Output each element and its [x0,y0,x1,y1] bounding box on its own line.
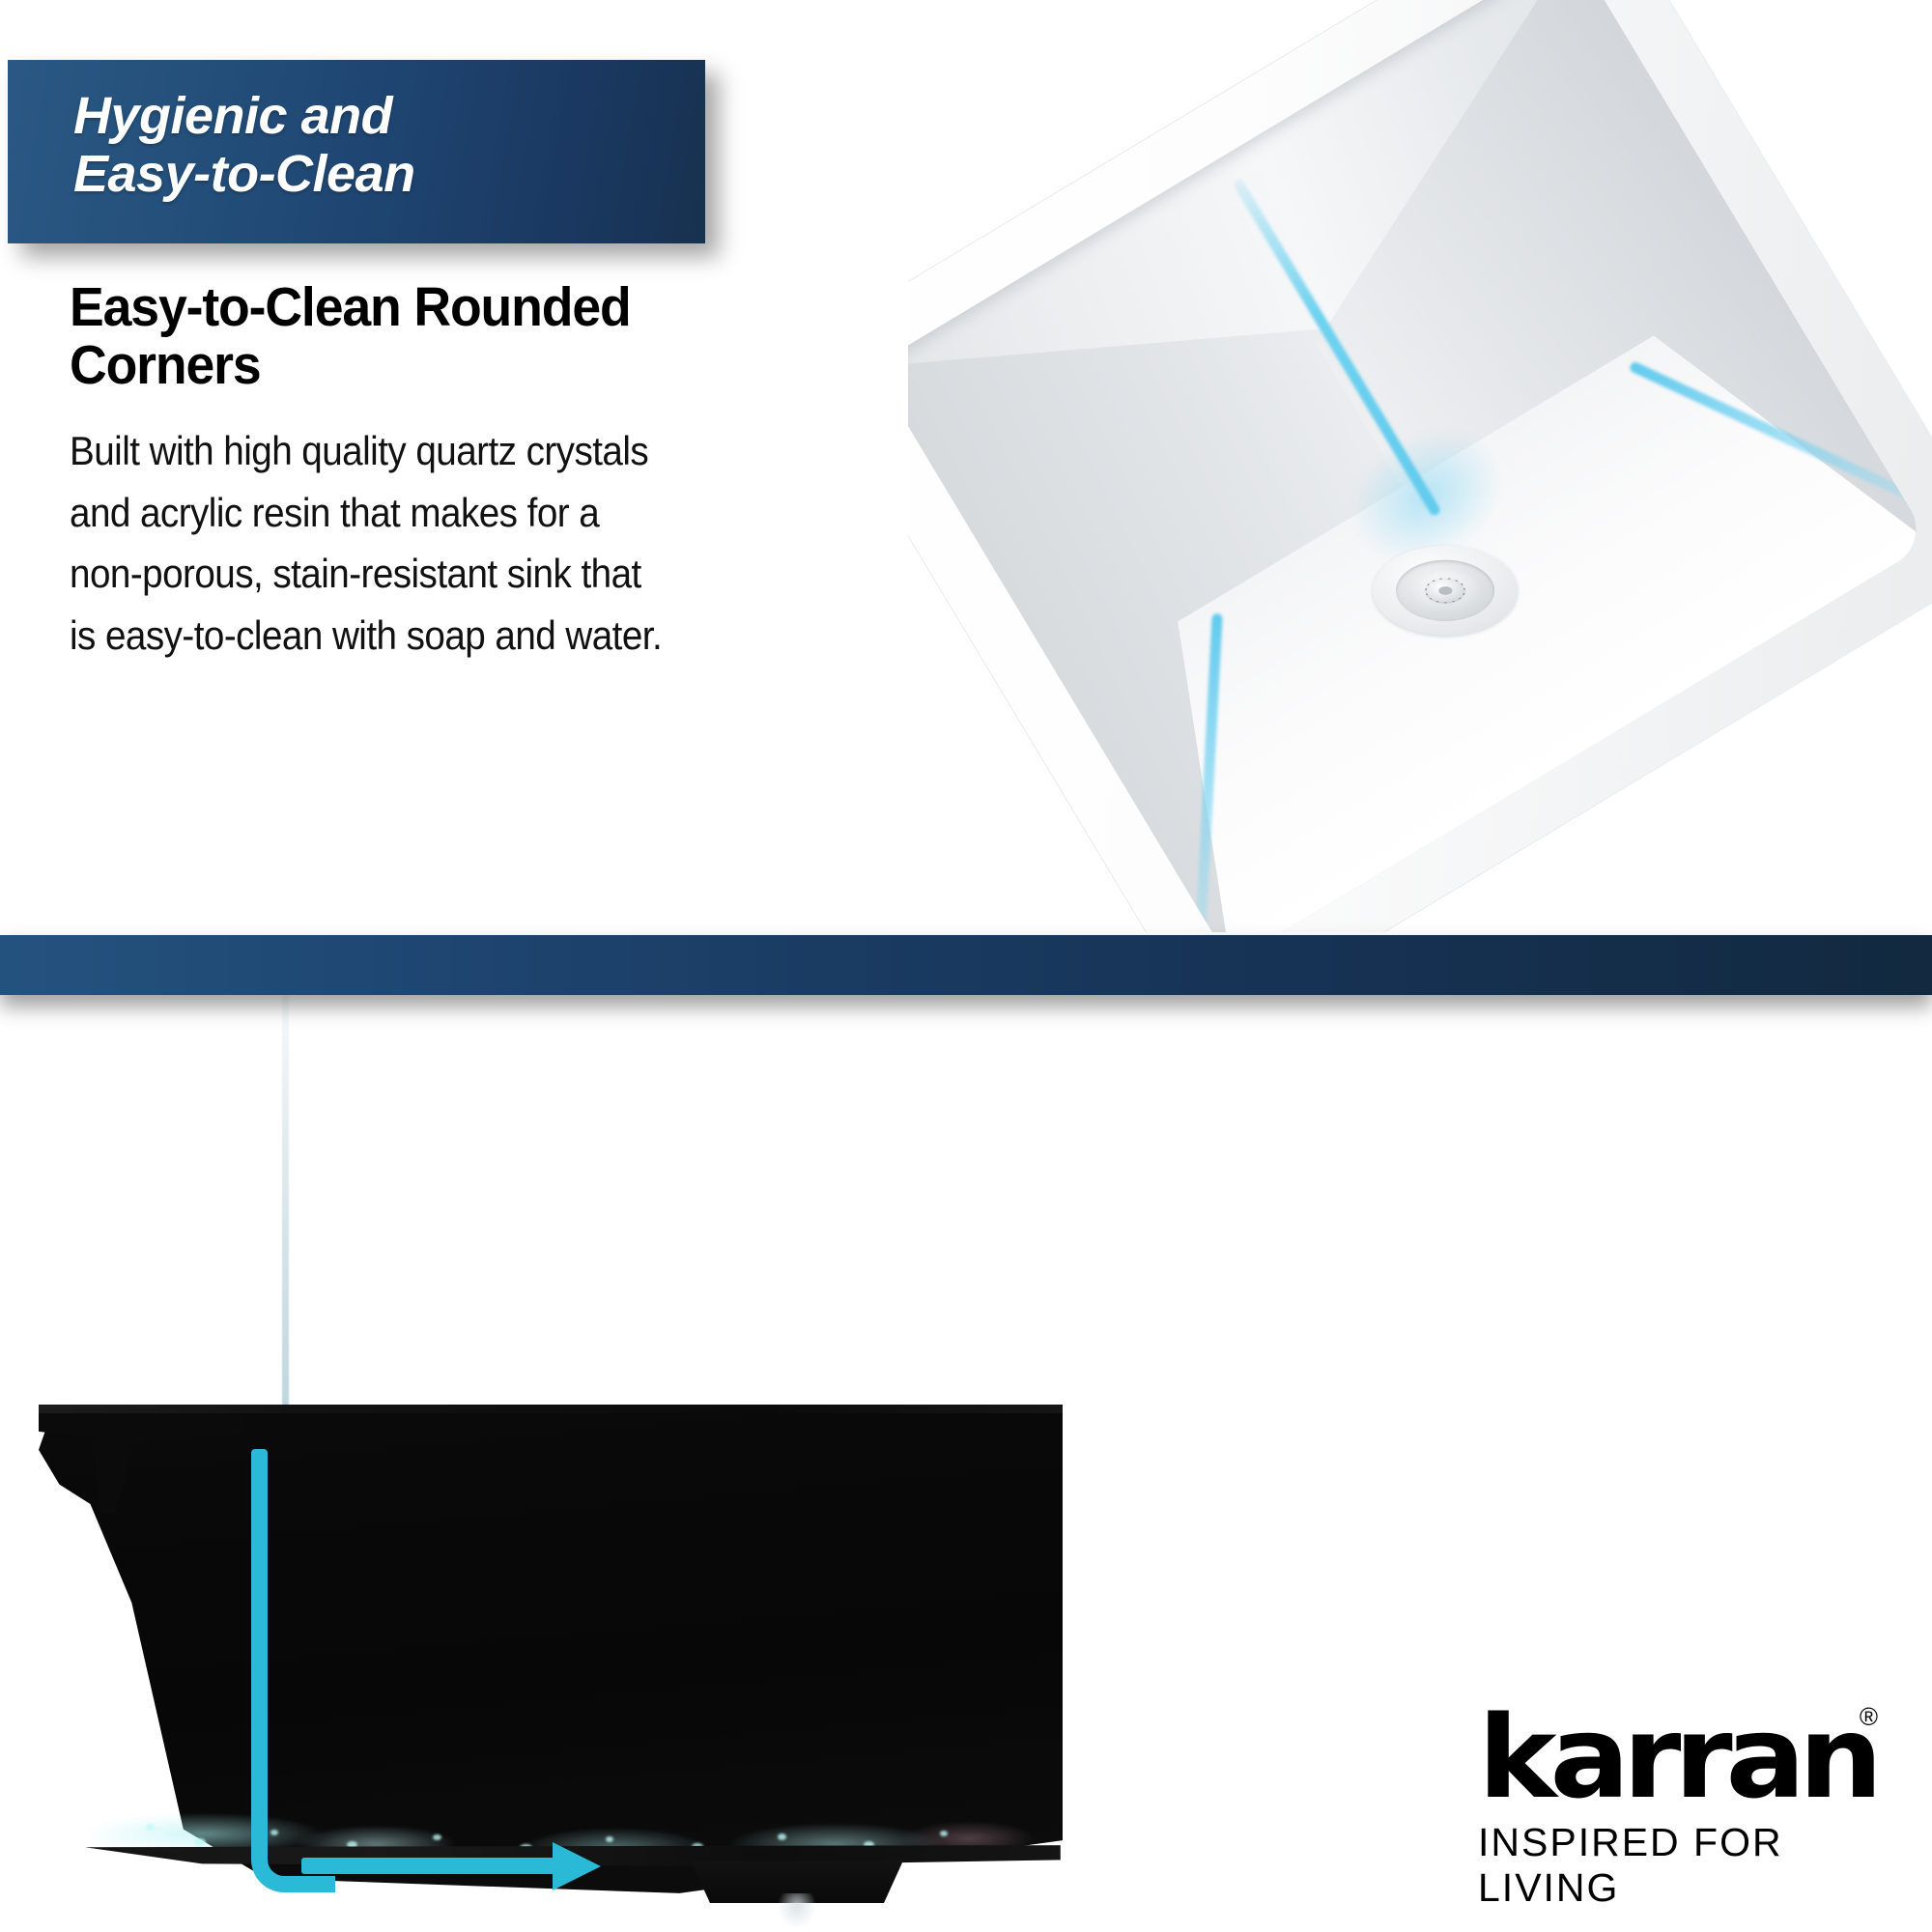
draining-water-spray [763,1893,831,1932]
hygienic-banner: Hygienic and Easy-to-Clean [8,60,705,243]
top-heading: Easy-to-Clean Rounded Corners [70,278,705,395]
karran-tagline: INSPIRED FOR LIVING [1478,1820,1884,1911]
section-divider-bar [0,935,1932,995]
faucet-water-stream [282,995,289,1447]
infographic-page: Hygienic and Easy-to-Clean Easy-to-Clean… [0,0,1932,1932]
registered-trademark-icon: ® [1860,1702,1878,1732]
karran-wordmark-container: karran ® [1478,1700,1874,1814]
black-sink-photo [0,995,1063,1932]
sink-illustration [908,0,1932,932]
water-flow-arrow-icon [241,1729,686,1913]
top-text-block: Easy-to-Clean Rounded Corners Built with… [70,278,746,667]
top-feature-section: Hygienic and Easy-to-Clean Easy-to-Clean… [0,0,1932,932]
banner-label: Hygienic and Easy-to-Clean [73,87,686,204]
karran-wordmark: karran [1478,1700,1889,1814]
drain-pin [1438,586,1452,594]
drain-strainer-icon [1373,546,1518,636]
top-body-text: Built with high quality quartz crystals … [70,420,692,667]
karran-logo: karran ® INSPIRED FOR LIVING [1478,1700,1884,1874]
sink-basin [908,0,1930,932]
white-sink-photo [908,0,1932,932]
black-sink-top-edge [39,1405,1063,1413]
